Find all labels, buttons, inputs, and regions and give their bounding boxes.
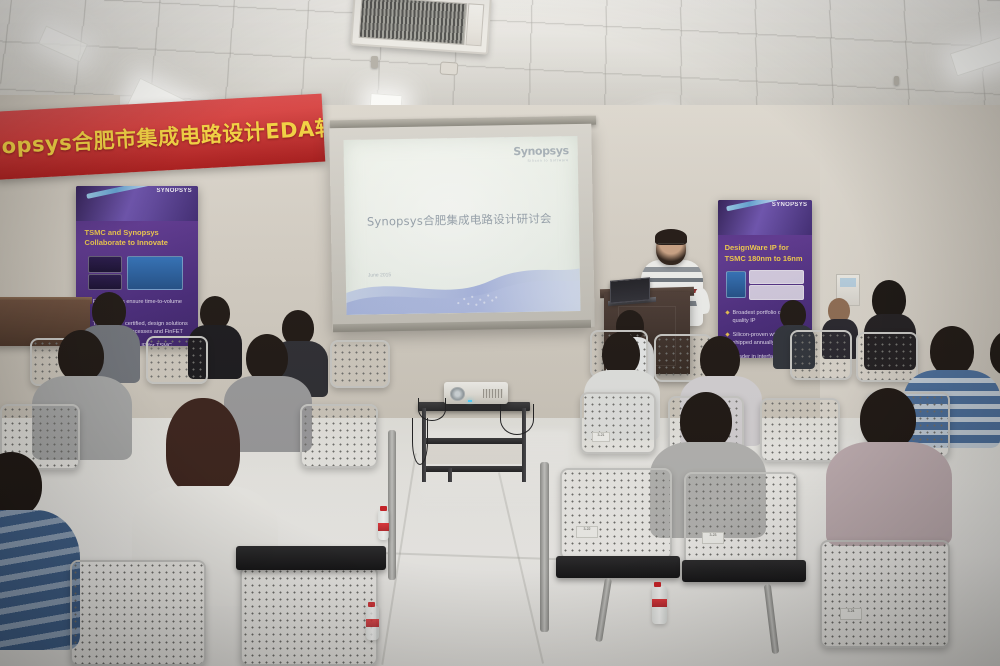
- poster-left-title: TSMC and Synopsys Collaborate to Innovat…: [85, 228, 190, 250]
- poster-left-art-2: [88, 274, 122, 290]
- poster-right-title: DesignWare IP for TSMC 180nm to 16nm: [725, 243, 806, 265]
- chair-r1-c3[interactable]: 3-24: [820, 540, 950, 648]
- projector-lens-icon: [450, 387, 465, 401]
- seat-number-label: 3-21: [592, 432, 610, 442]
- poster-left-header: SYNOPSYS: [76, 186, 198, 221]
- synopsys-logo: Synopsys Silicon to Software: [513, 144, 569, 163]
- projector-cable-2: [500, 404, 534, 435]
- chair-frame-aisle-2: [540, 462, 549, 632]
- ac-vane: [465, 3, 484, 46]
- synopsys-logo-text: Synopsys: [513, 144, 569, 158]
- water-bottle-1[interactable]: [378, 510, 389, 540]
- poster-left-art-1: [88, 256, 122, 272]
- chair-backrest: [146, 336, 208, 384]
- sprinkler-head: [371, 56, 378, 68]
- slide-title: Synopsys合肥集成电路设计研讨会: [367, 210, 563, 229]
- poster-right-art-3: [749, 285, 804, 300]
- seat-number-label: 3-23: [702, 532, 724, 544]
- attendee-head: [246, 334, 288, 382]
- bottle-cap: [654, 582, 661, 587]
- chair-seat-cushion-1[interactable]: [556, 556, 680, 578]
- smoke-detector-icon: [440, 61, 459, 75]
- attendee-head-long-hair: [166, 398, 240, 494]
- chair-backrest: [300, 404, 378, 468]
- chair-backrest: [330, 340, 390, 388]
- glasses-icon: [658, 243, 684, 250]
- presentation-slide: Synopsys Silicon to Software Synopsys合肥集…: [343, 136, 580, 315]
- bottle-cap: [380, 506, 387, 511]
- attendee-body: [826, 442, 952, 546]
- wall-panel-display: [840, 278, 856, 287]
- chair-r1-l2[interactable]: [240, 566, 378, 666]
- chair-r2-l2[interactable]: [300, 404, 378, 468]
- poster-right-art-1: [726, 271, 747, 298]
- poster-right-logo: SYNOPSYS: [772, 202, 807, 208]
- water-bottle-3[interactable]: [366, 606, 379, 640]
- chip-graphic-icon-right: [726, 200, 777, 211]
- chair-r1-c2[interactable]: 3-23: [684, 472, 798, 566]
- chair-frame-aisle-1: [388, 430, 396, 580]
- poster-right-art-2: [749, 270, 804, 285]
- chair-backrest: [856, 332, 918, 382]
- bottle-cap: [368, 602, 375, 607]
- chair-r3-c3[interactable]: [790, 330, 852, 380]
- chair-seat-cushion-2[interactable]: [682, 560, 806, 582]
- projector-vent: [483, 389, 503, 398]
- projection-screen: Synopsys Silicon to Software Synopsys合肥集…: [329, 124, 595, 332]
- attendee-head: [58, 330, 104, 382]
- chair-r2-c1[interactable]: 3-21: [580, 392, 656, 454]
- chair-backrest: [240, 566, 378, 666]
- chair-seat-cushion-3[interactable]: [236, 546, 386, 570]
- chair-r1-c1[interactable]: 3-22: [560, 468, 672, 560]
- seat-number-label: 3-22: [576, 526, 598, 538]
- chair-backrest: [684, 472, 798, 566]
- chair-backrest: [70, 560, 206, 666]
- projector-power-led: [468, 400, 472, 402]
- bottle-label: [366, 619, 379, 627]
- cart-leg-3: [448, 468, 452, 482]
- chair-r2-c3[interactable]: [760, 398, 840, 462]
- attendee-body: [0, 510, 80, 650]
- chip-graphic-icon: [86, 186, 153, 199]
- conference-room-photo: ynopsys合肥市集成电路设计EDA软件应用研讨会的嘉宾 SYNOPSYS T…: [0, 0, 1000, 666]
- slide-wave-graphic: [345, 249, 580, 315]
- chair-backrest: [580, 392, 656, 454]
- ac-grille: [359, 0, 468, 45]
- chair-backrest: [790, 330, 852, 380]
- poster-left-art-3: [127, 256, 183, 290]
- poster-left-logo: SYNOPSYS: [156, 188, 191, 194]
- attendee-head: [860, 388, 916, 450]
- chair-r3-l2[interactable]: [146, 336, 208, 384]
- poster-right-header: SYNOPSYS: [718, 200, 812, 235]
- chair-backrest: [820, 540, 950, 648]
- bottle-label: [652, 599, 667, 607]
- chair-r3-l3[interactable]: [330, 340, 390, 388]
- cart-panel-mid: [426, 444, 522, 464]
- cart-low-shelf: [424, 466, 524, 472]
- chair-backrest: [760, 398, 840, 462]
- projector: [444, 382, 508, 404]
- chair-backrest: [560, 468, 672, 560]
- chair-r3-c4[interactable]: [856, 332, 918, 382]
- presenter-laptop: [610, 277, 650, 303]
- attendee-head: [930, 326, 974, 376]
- chair-r1-l1[interactable]: [70, 560, 206, 666]
- bottle-label: [378, 523, 389, 531]
- sprinkler-head-2: [894, 76, 899, 85]
- projector-cable-3: [412, 418, 428, 465]
- air-conditioner-unit: [350, 0, 492, 55]
- water-bottle-2[interactable]: [652, 586, 667, 624]
- seat-number-label: 3-24: [840, 608, 862, 620]
